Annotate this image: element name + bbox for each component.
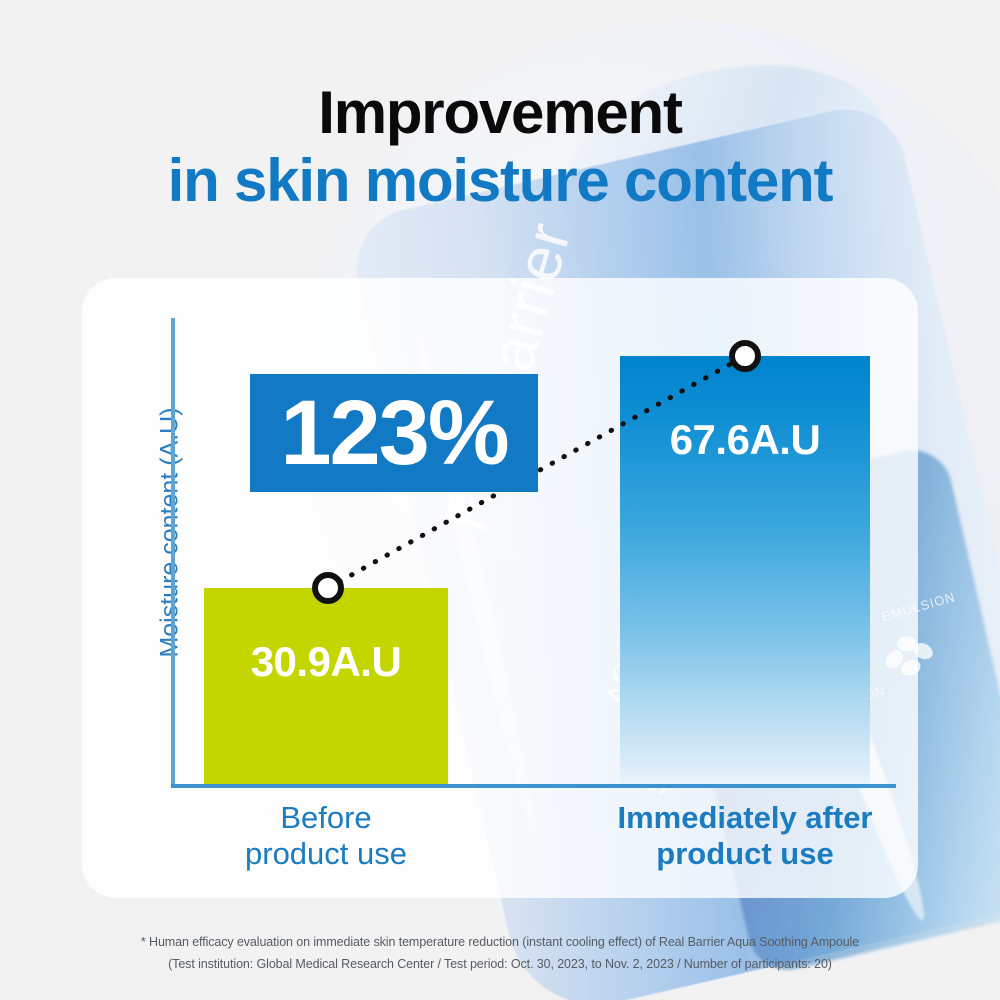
x-axis-label-after-line2: product use — [580, 836, 910, 872]
x-axis-label-after: Immediately after product use — [580, 800, 910, 873]
footnote-line-1: * Human efficacy evaluation on immediate… — [0, 932, 1000, 954]
x-axis-label-after-line1: Immediately after — [580, 800, 910, 836]
footnote-line-2: (Test institution: Global Medical Resear… — [0, 954, 1000, 976]
page-title-line2: in skin moisture content — [0, 144, 1000, 212]
improvement-percentage-value: 123% — [280, 387, 507, 479]
improvement-percentage-badge: 123% — [250, 374, 538, 492]
footnote: * Human efficacy evaluation on immediate… — [0, 932, 1000, 975]
trend-marker-after — [732, 343, 758, 369]
x-axis-label-before: Before product use — [204, 800, 448, 873]
trend-marker-before — [315, 575, 341, 601]
page-header: Improvement in skin moisture content — [0, 0, 1000, 213]
bar-chart: Moisture content (A.U) 30.9A.U 67.6A.U 1… — [82, 278, 918, 898]
page-title-line1: Improvement — [0, 0, 1000, 144]
x-axis-label-before-line1: Before — [204, 800, 448, 836]
chart-card: Moisture content (A.U) 30.9A.U 67.6A.U 1… — [82, 278, 918, 898]
x-axis-label-before-line2: product use — [204, 836, 448, 872]
